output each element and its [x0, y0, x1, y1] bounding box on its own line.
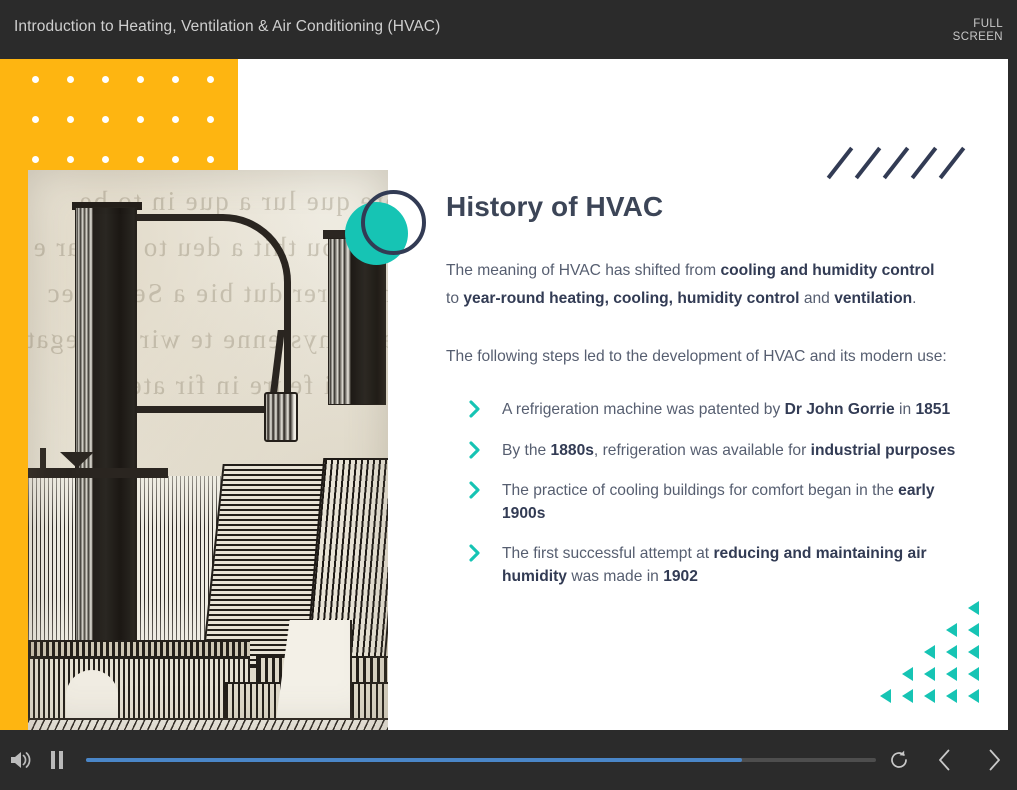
dot-decor	[172, 116, 179, 123]
list-item: By the 1880s, refrigeration was availabl…	[446, 440, 966, 481]
triangle-decor	[968, 689, 979, 703]
previous-slide-icon[interactable]	[935, 748, 955, 772]
dot-decor	[32, 76, 39, 83]
dot-decor	[137, 76, 144, 83]
triangle-decor	[946, 689, 957, 703]
emphasis-text: Dr John Gorrie	[785, 401, 895, 418]
slash-decor	[911, 147, 938, 179]
emphasis-text: year-round heating, cooling, humidity co…	[463, 290, 799, 307]
orange-decor-block	[0, 59, 238, 172]
body-text: The practice of cooling buildings for co…	[502, 482, 898, 499]
dot-decor	[172, 156, 179, 163]
body-text: The first successful attempt at	[502, 545, 713, 562]
triangle-decor	[880, 689, 891, 703]
body-text: and	[800, 290, 835, 307]
dot-decor	[102, 116, 109, 123]
dot-decor	[67, 156, 74, 163]
player-control-bar	[0, 730, 1017, 790]
orange-left-rail-decor	[0, 172, 28, 730]
page-title: Introduction to Heating, Ventilation & A…	[14, 18, 440, 36]
progress-fill	[86, 758, 742, 762]
fullscreen-label-line2: SCREEN	[953, 31, 1003, 44]
list-item-text: A refrigeration machine was patented by …	[502, 401, 950, 418]
dot-decor	[207, 116, 214, 123]
dot-decor	[137, 116, 144, 123]
history-engraving-image: more que lur a que in to be mote dou thi…	[28, 170, 388, 730]
navy-circle-outline-decor	[361, 190, 426, 255]
emphasis-text: cooling and humidity control	[720, 262, 934, 279]
triangle-decor	[968, 623, 979, 637]
triangle-decor	[902, 667, 913, 681]
chevron-right-icon	[468, 544, 484, 562]
list-item-text: The practice of cooling buildings for co…	[502, 482, 935, 522]
triangle-decor	[946, 667, 957, 681]
dot-decor	[32, 156, 39, 163]
body-text: was made in	[567, 568, 663, 585]
history-steps-list: A refrigeration machine was patented by …	[446, 371, 966, 606]
dot-decor	[67, 116, 74, 123]
dot-decor	[32, 116, 39, 123]
list-item: A refrigeration machine was patented by …	[446, 399, 966, 440]
replay-icon[interactable]	[888, 749, 910, 771]
steps-intro-paragraph: The following steps led to the developme…	[446, 313, 951, 371]
body-text: to	[446, 290, 463, 307]
course-player: Introduction to Heating, Ventilation & A…	[0, 0, 1017, 790]
emphasis-text: industrial purposes	[811, 442, 956, 459]
triangle-decor	[946, 623, 957, 637]
dot-decor	[207, 76, 214, 83]
emphasis-text: 1902	[663, 568, 698, 585]
pause-button[interactable]	[51, 751, 63, 769]
image-vignette	[28, 170, 388, 730]
triangle-decor	[968, 667, 979, 681]
list-item-text: The first successful attempt at reducing…	[502, 545, 927, 585]
volume-icon[interactable]	[8, 749, 34, 771]
triangle-decor	[924, 689, 935, 703]
body-text: , refrigeration was available for	[594, 442, 811, 459]
chevron-right-icon	[468, 441, 484, 459]
triangle-decor	[946, 645, 957, 659]
player-top-bar: Introduction to Heating, Ventilation & A…	[0, 0, 1017, 59]
triangle-decor	[924, 645, 935, 659]
body-text: A refrigeration machine was patented by	[502, 401, 785, 418]
emphasis-text: ventilation	[834, 290, 912, 307]
slide-canvas: more que lur a que in to be mote dou thi…	[0, 59, 1008, 730]
list-item: The practice of cooling buildings for co…	[446, 480, 966, 543]
dot-decor	[67, 76, 74, 83]
emphasis-text: 1880s	[551, 442, 594, 459]
body-text: .	[912, 290, 916, 307]
fullscreen-button[interactable]: FULL SCREEN	[953, 18, 1003, 44]
dot-decor	[172, 76, 179, 83]
body-text: in	[895, 401, 916, 418]
chevron-right-icon	[468, 481, 484, 499]
list-item: The first successful attempt at reducing…	[446, 543, 966, 606]
emphasis-text: 1851	[915, 401, 950, 418]
fullscreen-label-line1: FULL	[953, 18, 1003, 31]
pause-bar-left	[51, 751, 55, 769]
dot-decor	[137, 156, 144, 163]
slash-decor	[827, 147, 854, 179]
slash-decor	[855, 147, 882, 179]
body-text: By the	[502, 442, 551, 459]
body-text: The meaning of HVAC has shifted from	[446, 262, 720, 279]
dot-decor	[207, 156, 214, 163]
chevron-right-icon	[468, 400, 484, 418]
triangle-pattern-decor	[880, 601, 984, 705]
list-item-text: By the 1880s, refrigeration was availabl…	[502, 442, 955, 459]
triangle-decor	[968, 645, 979, 659]
triangle-decor	[924, 667, 935, 681]
triangle-decor	[902, 689, 913, 703]
dot-decor	[102, 76, 109, 83]
pause-bar-right	[59, 751, 63, 769]
dot-decor	[102, 156, 109, 163]
progress-scrubber[interactable]	[86, 758, 876, 762]
slash-decor	[939, 147, 966, 179]
slide-content: History of HVAC The meaning of HVAC has …	[446, 190, 966, 606]
diagonal-slashes-decor	[838, 144, 988, 180]
slide-heading: History of HVAC	[446, 190, 966, 224]
intro-paragraph: The meaning of HVAC has shifted from coo…	[446, 224, 951, 313]
next-slide-icon[interactable]	[984, 748, 1004, 772]
triangle-decor	[968, 601, 979, 615]
slash-decor	[883, 147, 910, 179]
dot-grid-decor	[0, 59, 238, 172]
